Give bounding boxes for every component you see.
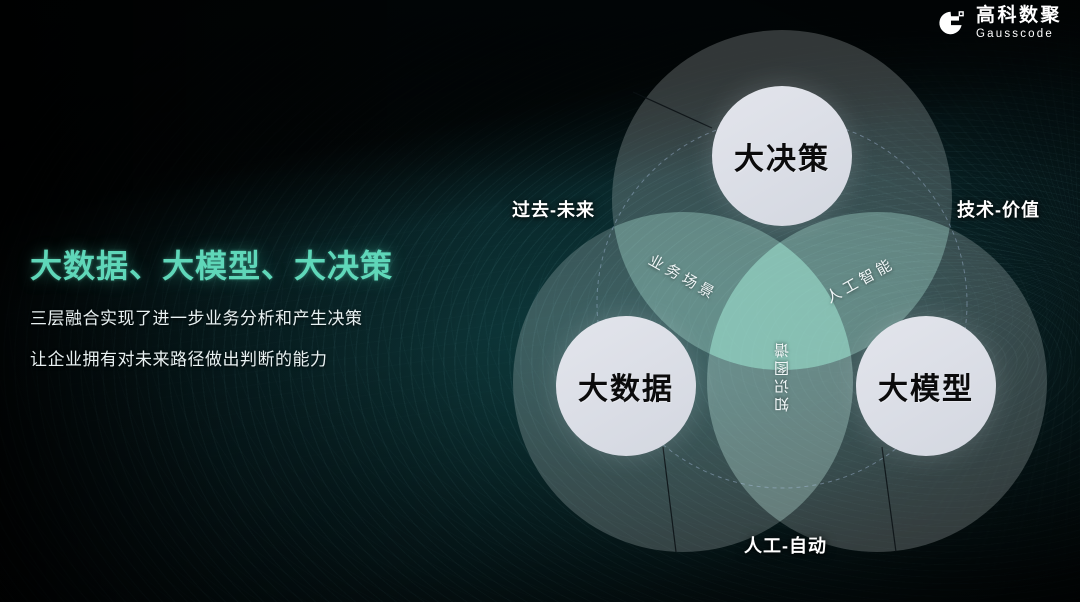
venn-core-model-label: 大模型 xyxy=(878,364,974,408)
venn-core-data[interactable]: 大数据 xyxy=(556,316,696,456)
brand-name-en: Gausscode xyxy=(976,29,1062,41)
brand-logo-text: 高科数聚 Gausscode xyxy=(976,6,1062,41)
venn-intersection-knowledge-graph: 知识图谱 xyxy=(772,340,793,412)
axis-label-tech-value: 技术-价值 xyxy=(957,196,1040,222)
brand-name-cn: 高科数聚 xyxy=(976,6,1062,25)
subtitle-line-2: 让企业拥有对未来路径做出判断的能力 xyxy=(30,345,470,370)
gausscode-g-mark-icon xyxy=(937,8,967,38)
brand-logo: 高科数聚 Gausscode xyxy=(937,6,1062,41)
axis-label-manual-auto: 人工-自动 xyxy=(744,532,827,558)
venn-core-decision-label: 大决策 xyxy=(734,134,830,178)
page-title: 大数据、大模型、大决策 xyxy=(30,246,470,286)
axis-label-past-future: 过去-未来 xyxy=(512,196,595,222)
headline-block: 大数据、大模型、大决策 三层融合实现了进一步业务分析和产生决策 让企业拥有对未来… xyxy=(30,246,470,370)
venn-core-data-label: 大数据 xyxy=(578,364,674,408)
venn-core-model[interactable]: 大模型 xyxy=(856,316,996,456)
subtitle-line-1: 三层融合实现了进一步业务分析和产生决策 xyxy=(30,304,470,329)
venn-core-decision[interactable]: 大决策 xyxy=(712,86,852,226)
slide-canvas: 高科数聚 Gausscode 大数据、大模型、大决策 三层融合实现了进一步业务分… xyxy=(0,0,1080,602)
